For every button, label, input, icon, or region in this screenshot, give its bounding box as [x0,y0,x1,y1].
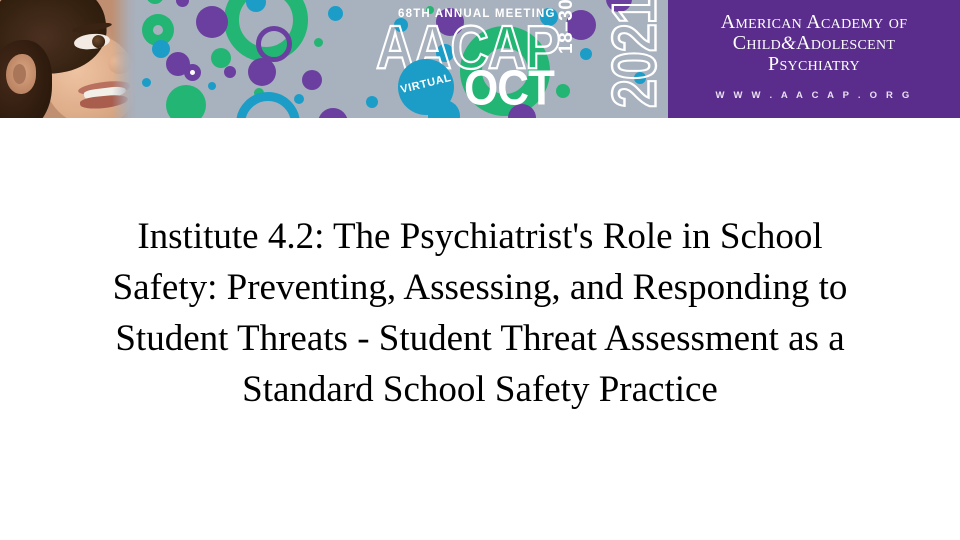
meeting-wordmark: 68TH ANNUAL MEETING AACAP VIRTUAL OCT 18… [398,0,668,118]
decor-circle-green [146,0,164,4]
logo-ampersand: & [781,33,796,54]
decor-circle-purple [302,70,322,90]
virtual-badge-label: VIRTUAL [397,71,454,96]
meeting-year: 2021 [604,0,666,108]
logo-line-child-adolescent: Child&Adolescent [668,33,960,54]
decor-circle-teal [142,78,151,87]
title-line-2: Safety: Preventing, Assessing, and Respo… [30,262,930,313]
presentation-slide: 68TH ANNUAL MEETING AACAP VIRTUAL OCT 18… [0,0,960,540]
aacap-logo-text: American Academy of Child&Adolescent Psy… [668,12,960,75]
meeting-month: OCT [464,64,554,113]
title-line-3: Student Threats - Student Threat Assessm… [30,313,930,364]
decor-circle-teal [366,96,378,108]
decor-circle-green [166,85,206,118]
decor-circle-purple [176,0,189,7]
logo-line-psychiatry: Psychiatry [668,54,960,75]
photo-ear-inner [13,64,26,84]
logo-word-adolescent: Adolescent [796,32,895,54]
decor-circle-purple [248,58,276,86]
decor-ring-teal [236,92,300,118]
logo-line-american-academy-of: American Academy of [668,12,960,33]
decor-circle-green [211,48,231,68]
decor-circle-gray [153,25,163,35]
logo-word-child: Child [733,32,781,54]
slide-title: Institute 4.2: The Psychiatrist's Role i… [30,211,930,415]
decor-circle-teal [294,94,304,104]
conference-header-banner: 68TH ANNUAL MEETING AACAP VIRTUAL OCT 18… [0,0,960,118]
decor-circle-purple [318,108,348,118]
virtual-badge: VIRTUAL [398,59,454,115]
decor-circle-green [314,38,323,47]
title-line-1: Institute 4.2: The Psychiatrist's Role i… [30,211,930,262]
decor-circle-teal [208,82,216,90]
decor-circle-purple [224,66,236,78]
decor-circle-teal [328,6,343,21]
decor-circle-teal [152,40,170,58]
decor-circle-purple [196,6,228,38]
child-photo [0,0,136,118]
title-line-4: Standard School Safety Practice [30,364,930,415]
decor-circle-white [190,70,195,75]
photo-edge-fade [112,0,136,118]
decor-ring-purple [256,26,292,62]
meeting-dates: 18–30 [556,0,578,54]
aacap-logo-panel: American Academy of Child&Adolescent Psy… [668,0,960,118]
aacap-website-url: W W W . A A C A P . O R G [668,90,960,101]
